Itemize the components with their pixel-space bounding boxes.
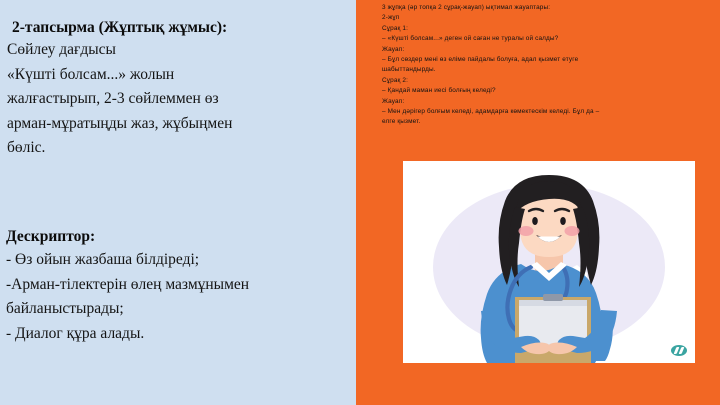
left-content-panel: 2-тапсырма (Жұптық жұмыс): Сөйлеу дағдыс… [0,0,352,405]
task-line: «Күшті болсам...» жолын [7,63,351,88]
answer-key-line: Жауап: [382,97,712,107]
answer-key-line: елге қызмет. [382,117,712,127]
answer-key-block: 3 жұпқа (әр топқа 2 сұрақ-жауап) ықтимал… [382,3,712,128]
descriptor-line: байланыстырады; [6,297,351,322]
task-block: 2-тапсырма (Жұптық жұмыс): Сөйлеу дағдыс… [6,17,351,161]
descriptor-line: - Диалог құра алады. [6,322,351,347]
illustration-card [403,161,695,363]
task-body: Сөйлеу дағдысы «Күшті болсам...» жолын ж… [6,38,351,161]
task-line: арман-мұратыңды жаз, жұбыңмен [7,112,351,137]
descriptor-body: - Өз ойын жазбаша білдіреді; -Арман-тіле… [6,248,351,346]
watermark-logo-icon [671,345,687,356]
task-line: бөліс. [7,136,351,161]
task-line: Сөйлеу дағдысы [7,38,351,63]
answer-key-line: Сұрақ 1: [382,24,712,34]
answer-key-line: шабыттандырды. [382,65,712,75]
right-content-panel: 3 жұпқа (әр топқа 2 сұрақ-жауап) ықтимал… [356,0,720,405]
descriptor-line: -Арман-тілектерін өлең мазмұнымен [6,273,351,298]
slide-canvas: 2-тапсырма (Жұптық жұмыс): Сөйлеу дағдыс… [0,0,720,405]
descriptor-block: Дескриптор: - Өз ойын жазбаша білдіреді;… [6,225,351,346]
answer-key-line: 2-жұп [382,13,712,23]
descriptor-title: Дескриптор: [6,225,351,248]
answer-key-line: – Қандай маман иесі болғың келеді? [382,86,712,96]
answer-key-line: – Мен дәрігер болғым келеді, адамдарға к… [382,107,712,117]
answer-key-line: Жауап: [382,45,712,55]
task-title: 2-тапсырма (Жұптық жұмыс): [6,17,351,38]
task-line: жалғастырып, 2-3 сөйлеммен өз [7,87,351,112]
answer-key-line: – «Күшті болсам...» деген ой саған не ту… [382,34,712,44]
doctor-illustration-icon [403,161,695,363]
answer-key-line: 3 жұпқа (әр топқа 2 сұрақ-жауап) ықтимал… [382,3,712,13]
answer-key-line: – Бұл сөздер мені өз еліме пайдалы болуғ… [382,55,712,65]
answer-key-line: Сұрақ 2: [382,76,712,86]
descriptor-line: - Өз ойын жазбаша білдіреді; [6,248,351,273]
